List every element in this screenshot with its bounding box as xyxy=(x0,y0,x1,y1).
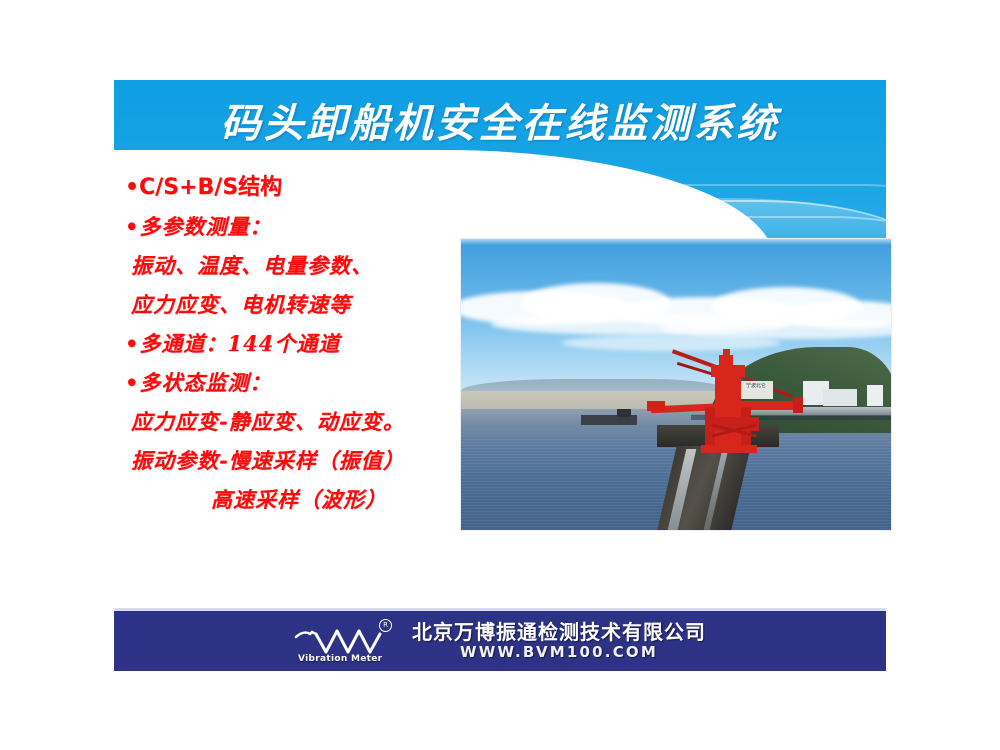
list-item: •多通道：144个通道 xyxy=(125,324,470,363)
footer-bar: R Vibration Meter 北京万博振通检测技术有限公司 WWW.BVM… xyxy=(114,608,886,671)
list-item: •多状态监测： xyxy=(125,363,470,402)
footer-text-block: 北京万博振通检测技术有限公司 WWW.BVM100.COM xyxy=(412,622,706,661)
photo-barge xyxy=(617,409,631,417)
crane-boom-tip xyxy=(647,401,665,411)
page-title: 码头卸船机安全在线监测系统 xyxy=(114,99,886,149)
list-item: •C/S+B/S结构 xyxy=(125,168,470,207)
list-item: 振动参数-慢速采样（振值） xyxy=(125,441,470,480)
ship-unloader-photo: 宁波北仑 xyxy=(460,238,892,531)
logo-label: Vibration Meter xyxy=(298,654,402,664)
list-item: 应力应变、电机转速等 xyxy=(125,285,470,324)
footer-content: R Vibration Meter 北京万博振通检测技术有限公司 WWW.BVM… xyxy=(114,611,886,671)
waveform-icon xyxy=(294,625,398,655)
list-item: 应力应变-静应变、动应变。 xyxy=(125,402,470,441)
bullet-list: •C/S+B/S结构 •多参数测量： 振动、温度、电量参数、 应力应变、电机转速… xyxy=(125,168,470,519)
crane-mast xyxy=(723,349,730,358)
list-item: •多参数测量： xyxy=(125,207,470,246)
crane-base xyxy=(701,445,757,453)
photo-shore-building xyxy=(823,389,857,406)
photo-shore-building xyxy=(867,385,883,406)
crane-tower xyxy=(715,373,741,451)
company-website: WWW.BVM100.COM xyxy=(460,645,658,661)
crane-signboard-text: 宁波北仑 xyxy=(739,383,773,389)
list-item: 高速采样（波形） xyxy=(125,480,470,519)
list-item: 振动、温度、电量参数、 xyxy=(125,246,470,285)
vibration-meter-logo: R Vibration Meter xyxy=(294,619,398,663)
crane-counter-boom-tip xyxy=(793,397,803,413)
company-name: 北京万博振通检测技术有限公司 xyxy=(412,622,706,643)
photo-top-fade xyxy=(461,239,891,245)
slide-canvas: 码头卸船机安全在线监测系统 •C/S+B/S结构 •多参数测量： 振动、温度、电… xyxy=(0,0,1000,750)
photo-ship-unloader-crane: 宁波北仑 xyxy=(653,347,803,451)
